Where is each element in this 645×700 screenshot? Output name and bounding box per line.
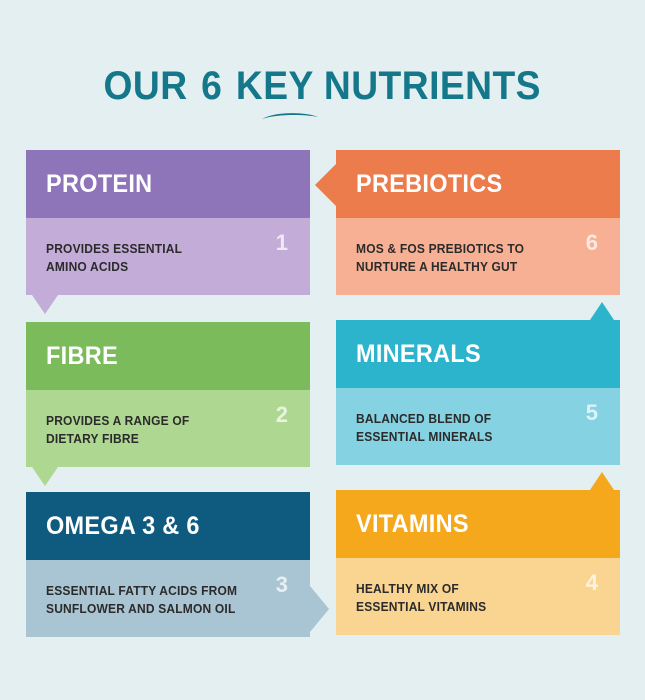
card-number-badge: 5 — [586, 402, 598, 424]
arrow-down-icon — [32, 295, 58, 314]
card-description-line2: ESSENTIAL MINERALS — [356, 428, 590, 446]
arrow-up-icon — [590, 302, 614, 320]
card-description-line1: PROVIDES A RANGE OF — [46, 412, 280, 430]
card-description: PROVIDES A RANGE OF DIETARY FIBRE — [46, 412, 280, 448]
card-number-badge: 1 — [276, 232, 288, 254]
arrow-left-icon — [315, 164, 336, 206]
card-description: HEALTHY MIX OF ESSENTIAL VITAMINS — [356, 580, 590, 616]
nutrient-card-minerals[interactable]: MINERALS BALANCED BLEND OF ESSENTIAL MIN… — [336, 320, 620, 465]
card-body: MOS & FOS PREBIOTICS TO NURTURE A HEALTH… — [336, 218, 620, 295]
arrow-down-icon — [32, 467, 58, 486]
card-description: BALANCED BLEND OF ESSENTIAL MINERALS — [356, 410, 590, 446]
card-number-badge: 2 — [276, 404, 288, 426]
arrow-right-icon — [310, 586, 329, 632]
card-number-badge: 4 — [586, 572, 598, 594]
card-title: PREBIOTICS — [356, 170, 502, 199]
card-title: PROTEIN — [46, 170, 152, 199]
card-title: MINERALS — [356, 340, 481, 369]
card-number-badge: 3 — [276, 574, 288, 596]
card-description-line1: HEALTHY MIX OF — [356, 580, 590, 598]
card-number-badge: 6 — [586, 232, 598, 254]
nutrient-card-prebiotics[interactable]: PREBIOTICS MOS & FOS PREBIOTICS TO NURTU… — [336, 150, 620, 295]
arrow-up-icon — [590, 472, 614, 490]
card-description-line1: ESSENTIAL FATTY ACIDS FROM — [46, 582, 280, 600]
card-body: PROVIDES A RANGE OF DIETARY FIBRE 2 — [26, 390, 310, 467]
card-description-line2: AMINO ACIDS — [46, 258, 280, 276]
card-description-line1: BALANCED BLEND OF — [356, 410, 590, 428]
card-header: PREBIOTICS — [336, 150, 620, 218]
nutrient-card-fibre[interactable]: FIBRE PROVIDES A RANGE OF DIETARY FIBRE … — [26, 322, 310, 467]
card-description-line1: PROVIDES ESSENTIAL — [46, 240, 280, 258]
card-description-line2: ESSENTIAL VITAMINS — [356, 598, 590, 616]
card-description-line2: NURTURE A HEALTHY GUT — [356, 258, 590, 276]
card-body: PROVIDES ESSENTIAL AMINO ACIDS 1 — [26, 218, 310, 295]
card-description: MOS & FOS PREBIOTICS TO NURTURE A HEALTH… — [356, 240, 590, 276]
infographic-page: OUR 6 KEY NUTRIENTS PROTEIN PROVIDES ESS… — [0, 0, 645, 700]
card-body: BALANCED BLEND OF ESSENTIAL MINERALS 5 — [336, 388, 620, 465]
card-header: OMEGA 3 & 6 — [26, 492, 310, 560]
nutrient-card-protein[interactable]: PROTEIN PROVIDES ESSENTIAL AMINO ACIDS 1 — [26, 150, 310, 295]
card-description-line1: MOS & FOS PREBIOTICS TO — [356, 240, 590, 258]
card-header: VITAMINS — [336, 490, 620, 558]
card-header: MINERALS — [336, 320, 620, 388]
card-body: HEALTHY MIX OF ESSENTIAL VITAMINS 4 — [336, 558, 620, 635]
nutrient-card-omega[interactable]: OMEGA 3 & 6 ESSENTIAL FATTY ACIDS FROM S… — [26, 492, 310, 637]
card-header: FIBRE — [26, 322, 310, 390]
card-description-line2: DIETARY FIBRE — [46, 430, 280, 448]
card-description-line2: SUNFLOWER AND SALMON OIL — [46, 600, 280, 618]
card-body: ESSENTIAL FATTY ACIDS FROM SUNFLOWER AND… — [26, 560, 310, 637]
card-description: ESSENTIAL FATTY ACIDS FROM SUNFLOWER AND… — [46, 582, 280, 618]
card-header: PROTEIN — [26, 150, 310, 218]
nutrient-card-grid: PROTEIN PROVIDES ESSENTIAL AMINO ACIDS 1… — [0, 0, 645, 700]
card-title: OMEGA 3 & 6 — [46, 512, 200, 541]
card-description: PROVIDES ESSENTIAL AMINO ACIDS — [46, 240, 280, 276]
card-title: FIBRE — [46, 342, 118, 371]
nutrient-card-vitamins[interactable]: VITAMINS HEALTHY MIX OF ESSENTIAL VITAMI… — [336, 490, 620, 635]
card-title: VITAMINS — [356, 510, 469, 539]
